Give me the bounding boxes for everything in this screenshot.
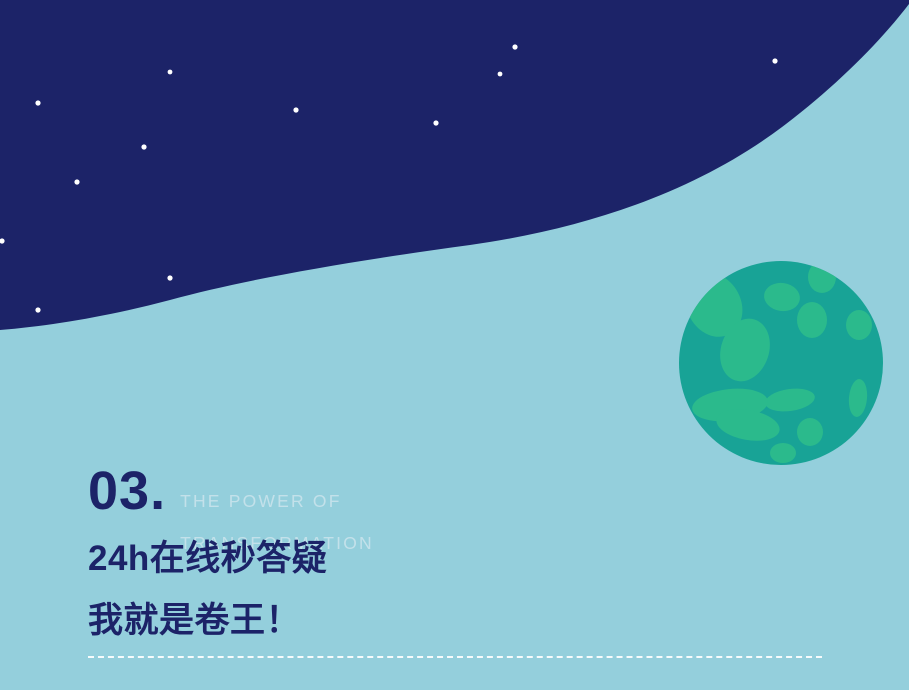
planet-landmass-blob xyxy=(797,302,827,338)
eyebrow-line-1: THE POWER OF xyxy=(180,491,342,511)
dashed-divider xyxy=(88,656,822,658)
star-icon xyxy=(74,179,79,184)
star-icon xyxy=(512,44,517,49)
star-icon xyxy=(498,72,503,77)
planet-landmass-blob xyxy=(846,310,872,340)
star-icon xyxy=(168,70,173,75)
star-icon xyxy=(141,144,146,149)
star-icon xyxy=(35,307,40,312)
slide-canvas: 03. THE POWER OF TRANSFORMATION 24h在线秒答疑… xyxy=(0,0,909,690)
slide-text-block: 03. THE POWER OF TRANSFORMATION 24h在线秒答疑… xyxy=(88,462,828,642)
star-icon xyxy=(293,107,298,112)
star-icon xyxy=(433,120,438,125)
headline-line-1: 24h在线秒答疑 xyxy=(88,538,828,580)
section-number: 03. xyxy=(88,464,166,518)
headline-line-2: 我就是卷王！ xyxy=(88,600,828,642)
star-icon xyxy=(35,100,40,105)
planet-landmass-blob xyxy=(770,443,796,463)
star-icon xyxy=(167,275,172,280)
star-icon xyxy=(772,58,777,63)
planet-landmass-blob xyxy=(797,418,823,446)
section-heading-row: 03. THE POWER OF TRANSFORMATION xyxy=(88,462,828,524)
